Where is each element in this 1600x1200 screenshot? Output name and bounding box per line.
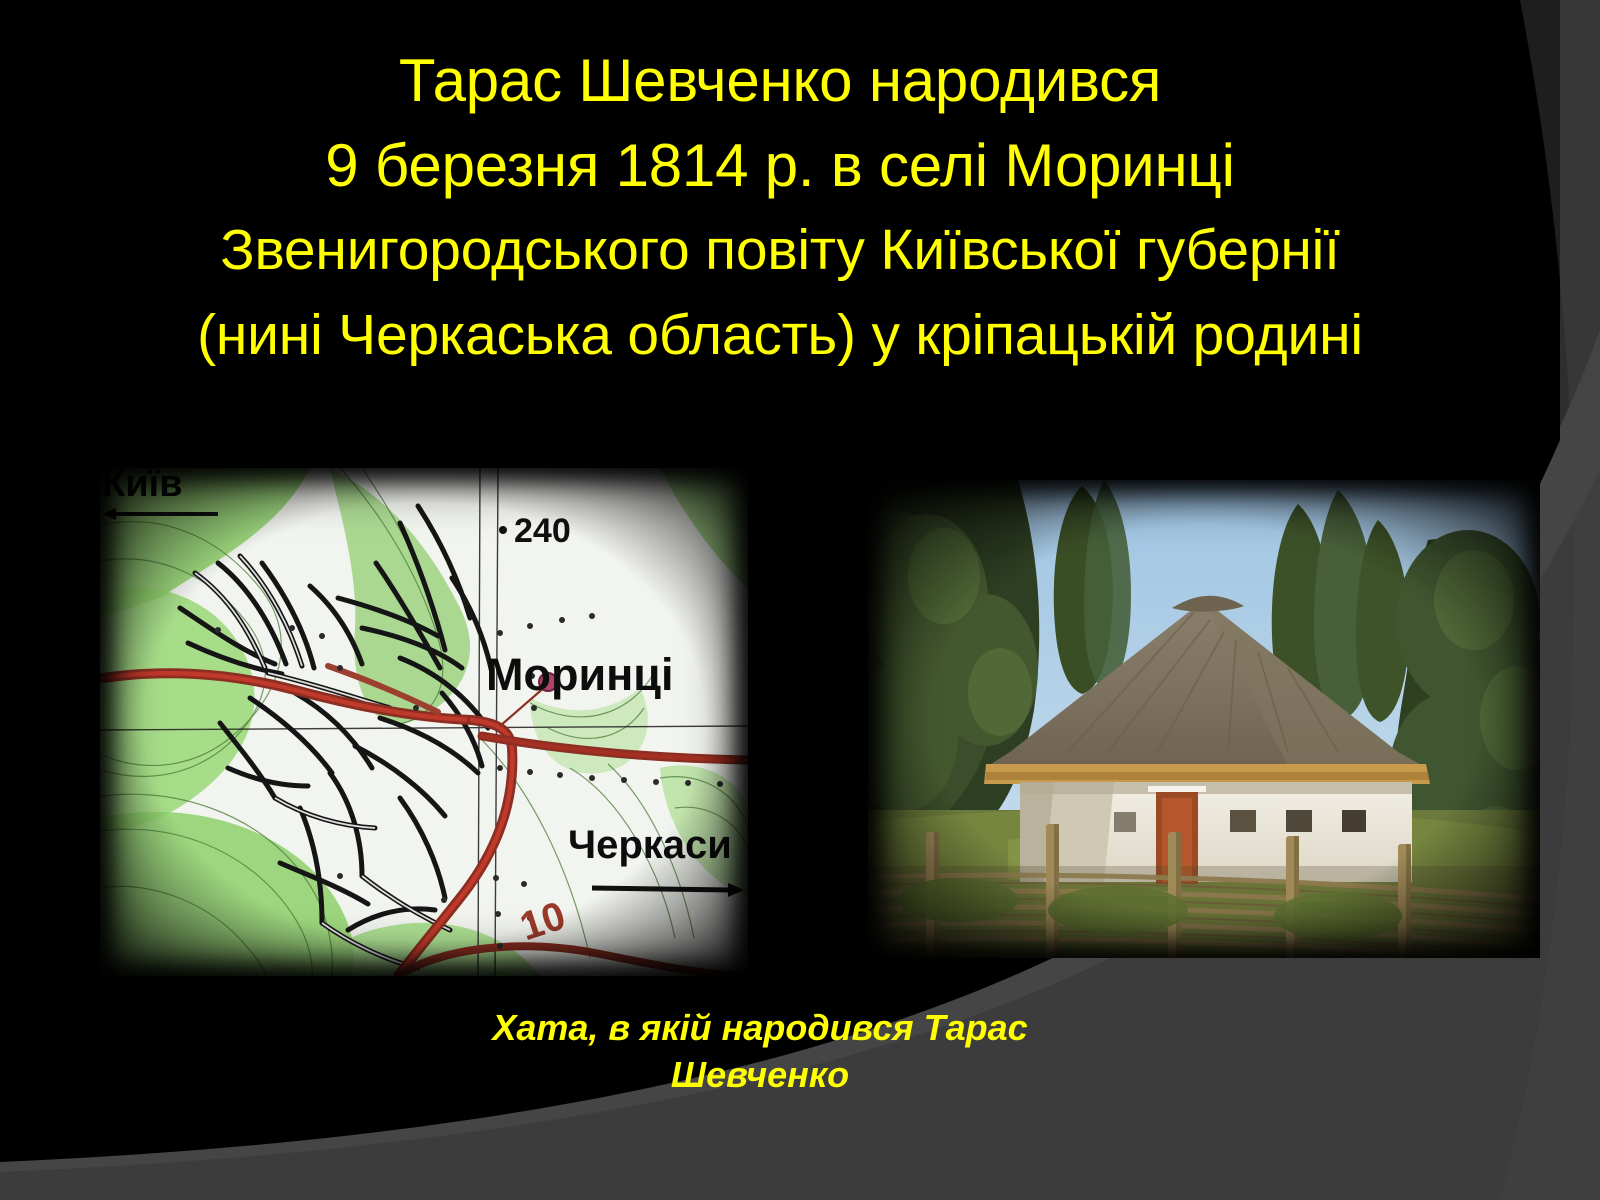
- presentation-slide: Тарас Шевченко народився 9 березня 1814 …: [0, 0, 1600, 1200]
- title-line-1: Тарас Шевченко народився: [0, 38, 1560, 123]
- caption-line-1: Хата, в якій народився Тарас: [0, 1004, 1520, 1051]
- map-illustration: 240 Моринці Київ Черкаси 10: [100, 468, 748, 976]
- title-line-4: (нині Черкаська область) у кріпацькій ро…: [0, 293, 1560, 378]
- title-line-2: 9 березня 1814 р. в селі Моринці: [0, 123, 1560, 208]
- cottage-image: [868, 480, 1540, 958]
- map-image: 240 Моринці Київ Черкаси 10: [100, 468, 748, 976]
- caption-line-2: Шевченко: [0, 1051, 1520, 1098]
- slide-title-block: Тарас Шевченко народився 9 березня 1814 …: [0, 38, 1560, 378]
- title-line-3: Звенигородського повіту Київської губерн…: [0, 208, 1560, 293]
- image-caption: Хата, в якій народився Тарас Шевченко: [0, 1004, 1520, 1098]
- cottage-illustration: [868, 480, 1540, 958]
